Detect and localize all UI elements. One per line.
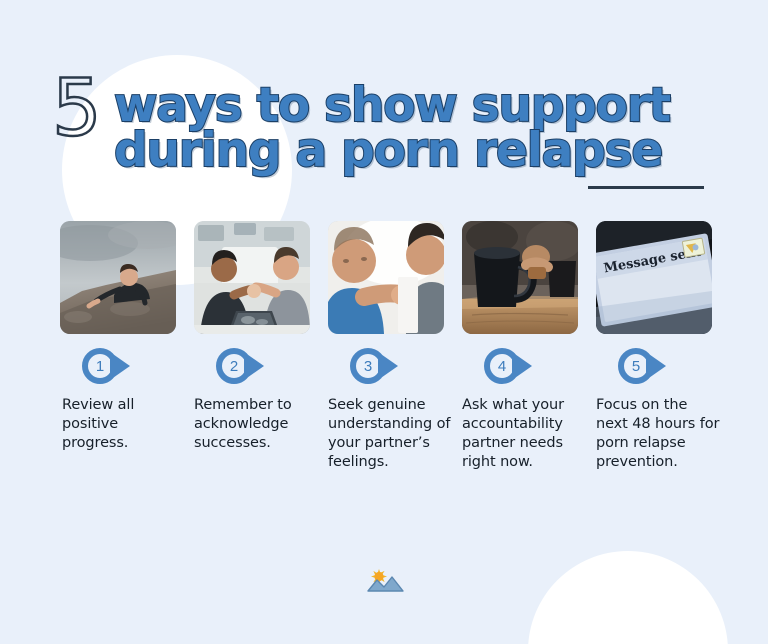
step-card-2: 2 Remember to acknowledge successes.: [194, 221, 310, 471]
step-badge-3: 3: [350, 348, 400, 384]
step-badge-4: 4: [484, 348, 534, 384]
step-badge-1: 1: [82, 348, 132, 384]
step-caption-3: Seek genuine understanding of your partn…: [328, 396, 452, 471]
headline-numeral: 5: [52, 70, 100, 148]
step-card-5: Message sent 5 Focus on the next 48 hour…: [596, 221, 712, 471]
step-caption-4: Ask what your accountability partner nee…: [462, 396, 586, 471]
step-number-1: 1: [82, 348, 118, 384]
headline-line-2: during a porn relapse: [114, 129, 729, 172]
step-card-4: 4 Ask what your accountability partner n…: [462, 221, 578, 471]
step-photo-4: [462, 221, 578, 334]
headline-line-1: ways to show support: [114, 84, 729, 127]
step-caption-1: Review all positive progress.: [62, 396, 186, 453]
step-card-3: 3 Seek genuine understanding of your par…: [328, 221, 444, 471]
step-photo-2: [194, 221, 310, 334]
step-number-4: 4: [484, 348, 520, 384]
step-number-3: 3: [350, 348, 386, 384]
step-photo-1: [60, 221, 176, 334]
step-card-1: 1 Review all positive progress.: [60, 221, 176, 471]
step-photo-5: Message sent: [596, 221, 712, 334]
infographic-canvas: 5 ways to show support during a porn rel…: [0, 0, 768, 644]
steps-row: 1 Review all positive progress.: [60, 221, 708, 471]
title-block: 5 ways to show support during a porn rel…: [52, 72, 722, 192]
decorative-circle-bottom-right: [528, 551, 728, 644]
step-badge-2: 2: [216, 348, 266, 384]
step-badge-5: 5: [618, 348, 668, 384]
title-underline-rule: [588, 186, 704, 189]
step-number-2: 2: [216, 348, 252, 384]
step-photo-3: [328, 221, 444, 334]
sun-over-mountains-logo: [366, 566, 404, 594]
step-caption-5: Focus on the next 48 hours for porn rela…: [596, 396, 720, 471]
step-number-5: 5: [618, 348, 654, 384]
page-title: ways to show support during a porn relap…: [114, 84, 729, 172]
step-caption-2: Remember to acknowledge successes.: [194, 396, 318, 453]
